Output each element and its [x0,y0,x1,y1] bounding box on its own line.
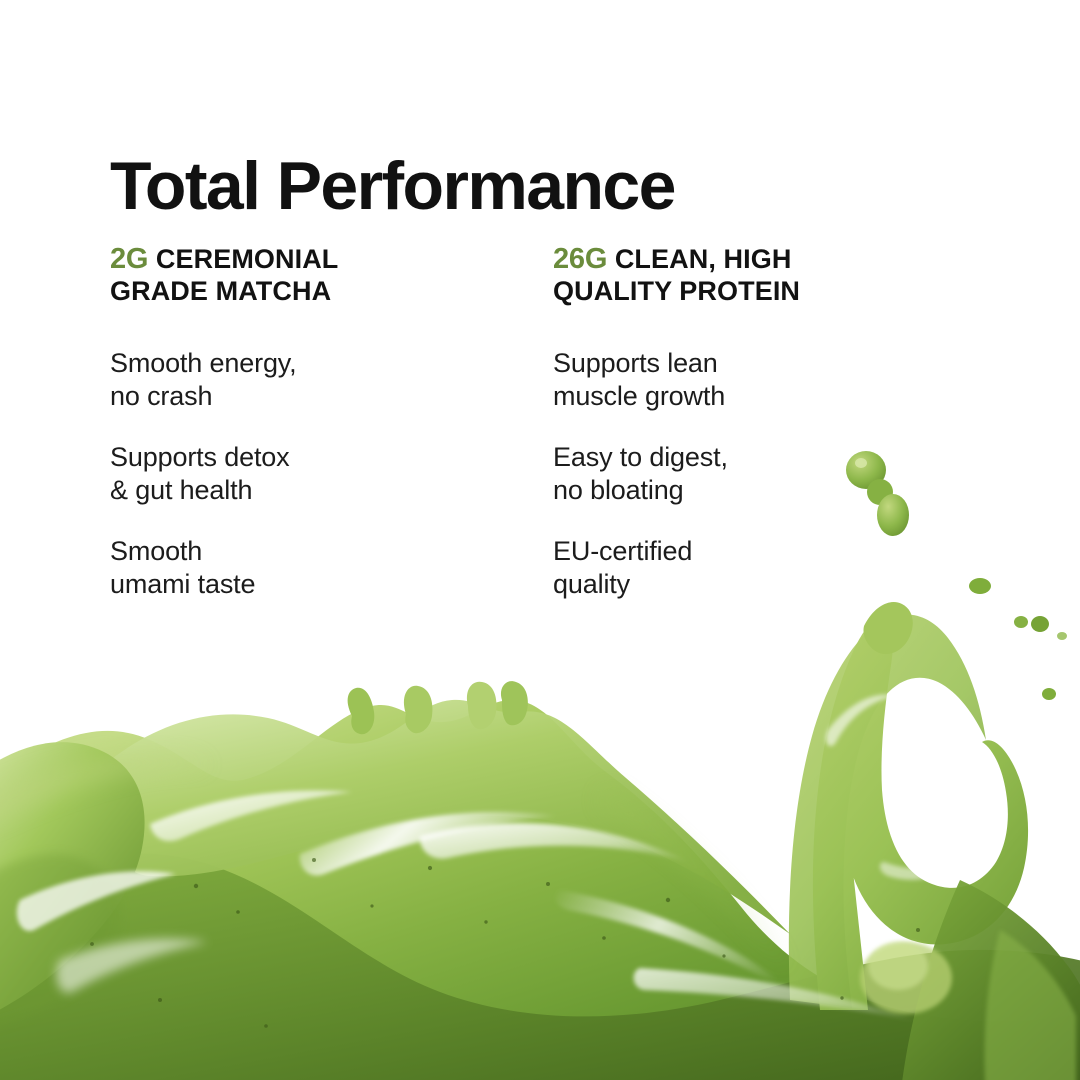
column-protein-benefit-list: Supports lean muscle growth Easy to dige… [553,347,996,601]
column-protein-heading: 26G CLEAN, HIGH QUALITY PROTEIN [553,243,883,307]
column-protein-amount: 26G [553,243,607,275]
benefit-item: Smooth umami taste [110,535,553,601]
column-matcha-benefit-list: Smooth energy, no crash Supports detox &… [110,347,553,601]
benefits-columns: 2G CEREMONIAL GRADE MATCHA Smooth energy… [110,243,980,601]
benefit-item: Supports lean muscle growth [553,347,996,413]
column-protein: 26G CLEAN, HIGH QUALITY PROTEIN Supports… [553,243,996,601]
benefit-item: Supports detox & gut health [110,441,553,507]
page-title: Total Performance [110,149,675,223]
column-matcha-amount: 2G [110,243,148,275]
benefit-item: EU-certified quality [553,535,996,601]
poster-canvas: Total Performance 2G CEREMONIAL GRADE MA… [0,0,1080,1080]
benefit-item: Easy to digest, no bloating [553,441,996,507]
content-layer: Total Performance 2G CEREMONIAL GRADE MA… [0,0,1080,1080]
column-matcha-heading: 2G CEREMONIAL GRADE MATCHA [110,243,440,307]
benefit-item: Smooth energy, no crash [110,347,553,413]
column-matcha: 2G CEREMONIAL GRADE MATCHA Smooth energy… [110,243,553,601]
